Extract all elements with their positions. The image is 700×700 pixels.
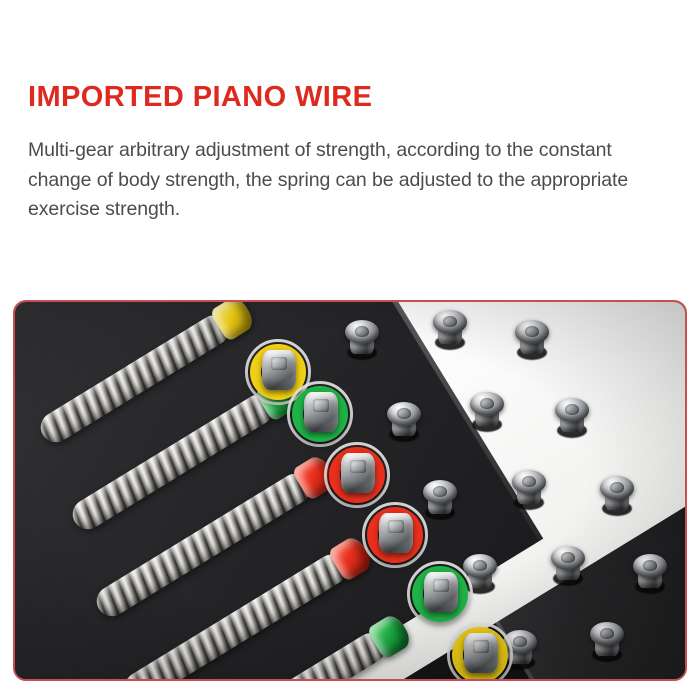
ring-roller: [367, 507, 423, 563]
stud-head: [633, 554, 667, 578]
roller-hub: [464, 633, 498, 673]
chrome-stud: [433, 310, 467, 350]
stud-head: [512, 470, 546, 494]
stud-head: [515, 320, 549, 344]
stud-head: [423, 480, 457, 504]
stud-head: [600, 476, 634, 500]
stud-head: [433, 310, 467, 334]
chrome-stud: [551, 546, 585, 586]
ring-roller: [452, 627, 508, 679]
stud-head: [551, 546, 585, 570]
chrome-stud: [515, 320, 549, 360]
text-block: IMPORTED PIANO WIRE Multi-gear arbitrary…: [28, 82, 676, 225]
chrome-stud: [423, 480, 457, 520]
chrome-stud: [633, 554, 667, 594]
stud-head: [555, 398, 589, 422]
description-text: Multi-gear arbitrary adjustment of stren…: [28, 136, 674, 225]
chrome-stud: [512, 470, 546, 510]
product-photo-frame: [13, 300, 687, 681]
chrome-stud: [345, 320, 379, 360]
roller-hub: [304, 392, 338, 432]
chrome-stud: [555, 398, 589, 438]
chrome-stud: [387, 402, 421, 442]
ring-roller: [329, 447, 385, 503]
ring-roller: [412, 566, 468, 622]
stud-head: [470, 392, 504, 416]
roller-hub: [341, 453, 375, 493]
chrome-stud: [470, 392, 504, 432]
ring-roller: [292, 386, 348, 442]
stud-head: [387, 402, 421, 426]
roller-hub: [379, 513, 413, 553]
stud-head: [345, 320, 379, 344]
product-feature-panel: IMPORTED PIANO WIRE Multi-gear arbitrary…: [0, 0, 700, 700]
roller-hub: [424, 572, 458, 612]
page-title: IMPORTED PIANO WIRE: [28, 82, 676, 114]
roller-hub: [262, 350, 296, 390]
stud-head: [463, 554, 497, 578]
product-photo: [15, 302, 685, 679]
chrome-stud: [590, 622, 624, 662]
chrome-stud: [600, 476, 634, 516]
stud-head: [590, 622, 624, 646]
